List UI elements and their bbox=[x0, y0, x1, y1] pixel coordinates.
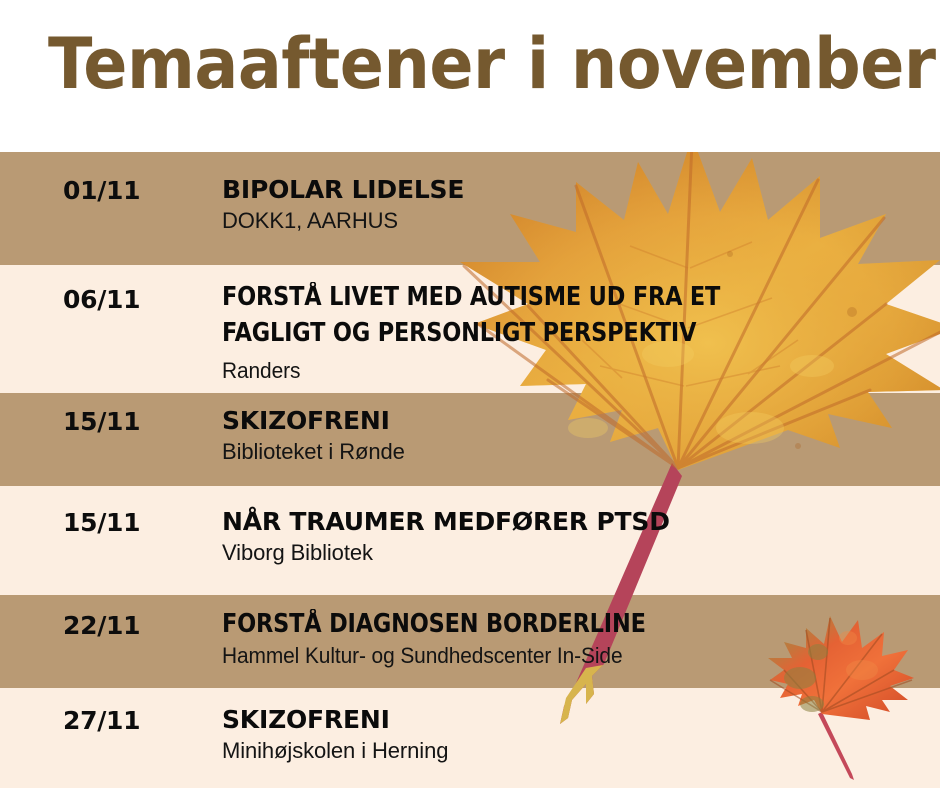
row-venue: Biblioteket i Rønde bbox=[222, 438, 930, 466]
row-venue: Minihøjskolen i Herning bbox=[222, 737, 930, 765]
row-body: SKIZOFRENI Minihøjskolen i Herning bbox=[222, 704, 930, 765]
row-body: SKIZOFRENI Biblioteket i Rønde bbox=[222, 405, 930, 466]
poster-canvas: Temaaftener i november 01/11 BIPOLAR LID… bbox=[0, 0, 940, 788]
row-date: 22/11 bbox=[63, 611, 140, 641]
row-venue: Randers bbox=[222, 357, 895, 385]
schedule-row[interactable]: 22/11 FORSTÅ DIAGNOSEN BORDERLINE Hammel… bbox=[0, 595, 940, 688]
row-body: BIPOLAR LIDELSE DOKK1, AARHUS bbox=[222, 174, 930, 235]
row-body: FORSTÅ LIVET MED AUTISME UD FRA ET FAGLI… bbox=[222, 279, 930, 385]
schedule-list: 01/11 BIPOLAR LIDELSE DOKK1, AARHUS 06/1… bbox=[0, 152, 940, 788]
row-title: BIPOLAR LIDELSE bbox=[222, 174, 930, 205]
row-title: SKIZOFRENI bbox=[222, 704, 930, 735]
row-date: 27/11 bbox=[63, 706, 140, 736]
row-venue: Viborg Bibliotek bbox=[222, 539, 930, 567]
schedule-row[interactable]: 06/11 FORSTÅ LIVET MED AUTISME UD FRA ET… bbox=[0, 265, 940, 393]
schedule-row[interactable]: 15/11 NÅR TRAUMER MEDFØRER PTSD Viborg B… bbox=[0, 486, 940, 595]
row-date: 15/11 bbox=[63, 508, 140, 538]
title-area: Temaaftener i november bbox=[0, 0, 940, 152]
row-title: FORSTÅ LIVET MED AUTISME UD FRA ET bbox=[222, 279, 845, 315]
row-venue: DOKK1, AARHUS bbox=[222, 207, 930, 235]
row-title-line2: FAGLIGT OG PERSONLIGT PERSPEKTIV bbox=[222, 315, 845, 351]
row-title: NÅR TRAUMER MEDFØRER PTSD bbox=[222, 506, 930, 537]
row-date: 06/11 bbox=[63, 285, 140, 315]
row-date: 15/11 bbox=[63, 407, 140, 437]
row-title: SKIZOFRENI bbox=[222, 405, 930, 436]
row-venue: Hammel Kultur- og Sundhedscenter In-Side bbox=[222, 642, 895, 670]
row-body: FORSTÅ DIAGNOSEN BORDERLINE Hammel Kultu… bbox=[222, 609, 930, 670]
row-body: NÅR TRAUMER MEDFØRER PTSD Viborg Bibliot… bbox=[222, 506, 930, 567]
page-title: Temaaftener i november bbox=[48, 24, 936, 104]
row-date: 01/11 bbox=[63, 176, 140, 206]
schedule-row[interactable]: 01/11 BIPOLAR LIDELSE DOKK1, AARHUS bbox=[0, 152, 940, 265]
schedule-row[interactable]: 27/11 SKIZOFRENI Minihøjskolen i Herning bbox=[0, 688, 940, 788]
row-title: FORSTÅ DIAGNOSEN BORDERLINE bbox=[222, 609, 845, 640]
schedule-row[interactable]: 15/11 SKIZOFRENI Biblioteket i Rønde bbox=[0, 393, 940, 486]
